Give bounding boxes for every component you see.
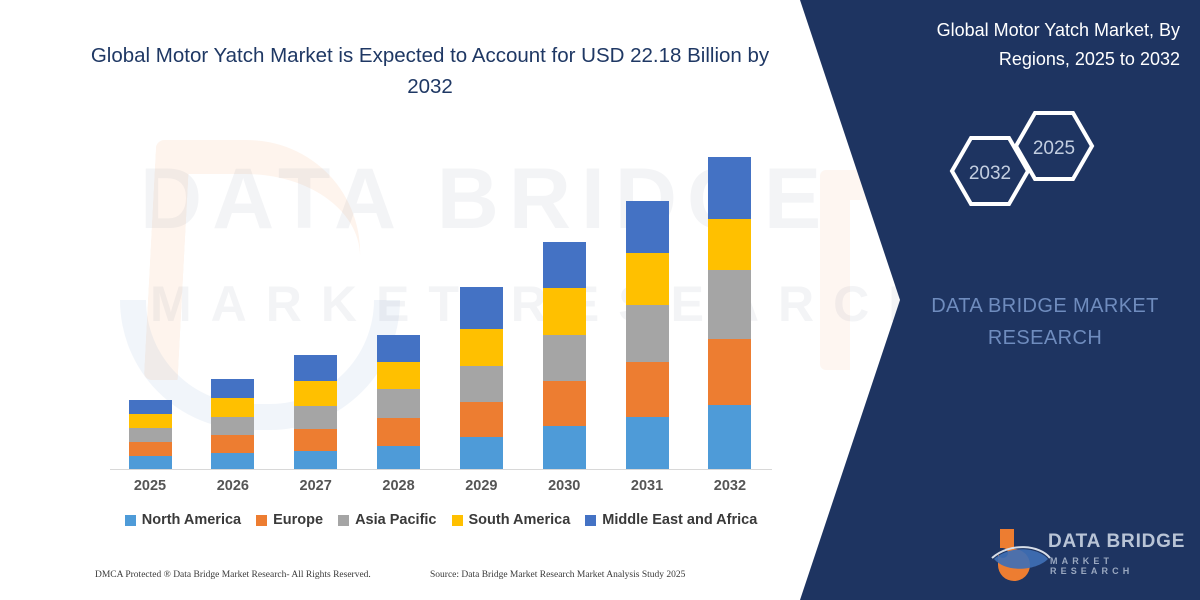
x-axis-line <box>110 469 772 470</box>
bar-segment <box>377 335 420 362</box>
x-axis-tick-label: 2032 <box>690 478 770 494</box>
bar-segment <box>294 451 337 470</box>
chart-infographic: DATA BRIDGE MARKET RESEARCH Global Motor… <box>0 0 1200 600</box>
bar-group <box>359 140 439 470</box>
stacked-bar <box>626 201 669 470</box>
bar-group <box>607 140 687 470</box>
bar-segment <box>294 429 337 451</box>
bar-group <box>524 140 604 470</box>
legend-item[interactable]: Asia Pacific <box>338 512 436 528</box>
bar-segment <box>129 414 172 428</box>
right-panel-brand-text: DATA BRIDGE MARKET RESEARCH <box>900 290 1190 354</box>
bar-segment <box>543 335 586 381</box>
bar-segment <box>377 418 420 446</box>
bar-group <box>441 140 521 470</box>
bar-segment <box>377 446 420 470</box>
bar-segment <box>211 453 254 470</box>
bar-segment <box>626 253 669 305</box>
bar-segment <box>211 417 254 435</box>
legend-label: Asia Pacific <box>355 512 436 528</box>
bar-segment <box>543 242 586 288</box>
bar-segment <box>129 428 172 442</box>
footer-source: Source: Data Bridge Market Research Mark… <box>430 570 685 580</box>
bar-segment <box>294 355 337 381</box>
stacked-bar <box>708 157 751 470</box>
bar-segment <box>211 398 254 417</box>
bar-segment <box>129 442 172 456</box>
stacked-bar <box>211 379 254 470</box>
x-axis-tick-label: 2026 <box>193 478 273 494</box>
dbmr-logo-line-2: MARKET RESEARCH <box>1050 556 1190 576</box>
stacked-bar <box>294 355 337 470</box>
bar-segment <box>211 435 254 453</box>
bar-segment <box>708 405 751 470</box>
stacked-bar <box>460 287 503 470</box>
bar-segment <box>708 219 751 270</box>
bar-segment <box>708 339 751 405</box>
legend-swatch-icon <box>125 515 136 526</box>
legend-swatch-icon <box>256 515 267 526</box>
hexagon-2025-label: 2025 <box>1033 138 1075 159</box>
bar-segment <box>626 362 669 417</box>
right-panel-title: Global Motor Yatch Market, By Regions, 2… <box>880 16 1180 74</box>
legend-label: Europe <box>273 512 323 528</box>
dbmr-logo-line-1: DATA BRIDGE <box>1048 531 1185 553</box>
bar-segment <box>626 201 669 253</box>
bar-segment <box>294 381 337 406</box>
x-axis-labels: 20252026202720282029203020312032 <box>110 478 770 494</box>
bar-segment <box>129 456 172 470</box>
legend-item[interactable]: South America <box>452 512 571 528</box>
dbmr-logo: DATA BRIDGE MARKET RESEARCH <box>990 525 1190 581</box>
stacked-bar <box>377 335 420 470</box>
x-axis-tick-label: 2028 <box>359 478 439 494</box>
bar-segment <box>377 362 420 389</box>
legend-label: Middle East and Africa <box>602 512 757 528</box>
footer-copyright: DMCA Protected ® Data Bridge Market Rese… <box>95 570 371 580</box>
legend-item[interactable]: North America <box>125 512 241 528</box>
legend-swatch-icon <box>585 515 596 526</box>
bar-chart-plot <box>110 140 770 470</box>
bar-group <box>193 140 273 470</box>
bar-segment <box>460 366 503 402</box>
hexagon-group: 2032 2025 <box>925 105 1115 230</box>
x-axis-tick-label: 2031 <box>607 478 687 494</box>
bar-segment <box>543 288 586 335</box>
hexagon-2032-label: 2032 <box>969 163 1011 184</box>
x-axis-tick-label: 2030 <box>524 478 604 494</box>
bar-segment <box>626 417 669 470</box>
legend-swatch-icon <box>452 515 463 526</box>
bar-segment <box>626 305 669 362</box>
legend-label: North America <box>142 512 241 528</box>
bar-segment <box>708 270 751 339</box>
bar-segment <box>129 400 172 414</box>
chart-panel: Global Motor Yatch Market is Expected to… <box>0 0 830 600</box>
legend-swatch-icon <box>338 515 349 526</box>
page-title: Global Motor Yatch Market is Expected to… <box>70 40 790 102</box>
x-axis-tick-label: 2025 <box>110 478 190 494</box>
bar-group <box>690 140 770 470</box>
stacked-bar <box>129 400 172 470</box>
bar-segment <box>708 157 751 219</box>
bar-segment <box>294 406 337 429</box>
bar-segment <box>543 381 586 426</box>
legend-label: South America <box>469 512 571 528</box>
legend-item[interactable]: Europe <box>256 512 323 528</box>
chart-legend: North AmericaEuropeAsia PacificSouth Ame… <box>110 512 772 528</box>
bar-group <box>276 140 356 470</box>
bar-segment <box>460 437 503 470</box>
stacked-bar <box>543 242 586 470</box>
bar-segment <box>543 426 586 470</box>
bar-segment <box>460 287 503 329</box>
x-axis-tick-label: 2029 <box>441 478 521 494</box>
bar-segment <box>460 402 503 437</box>
bar-segment <box>211 379 254 398</box>
bar-segment <box>377 389 420 418</box>
legend-item[interactable]: Middle East and Africa <box>585 512 757 528</box>
bar-group <box>110 140 190 470</box>
bar-segment <box>460 329 503 366</box>
x-axis-tick-label: 2027 <box>276 478 356 494</box>
